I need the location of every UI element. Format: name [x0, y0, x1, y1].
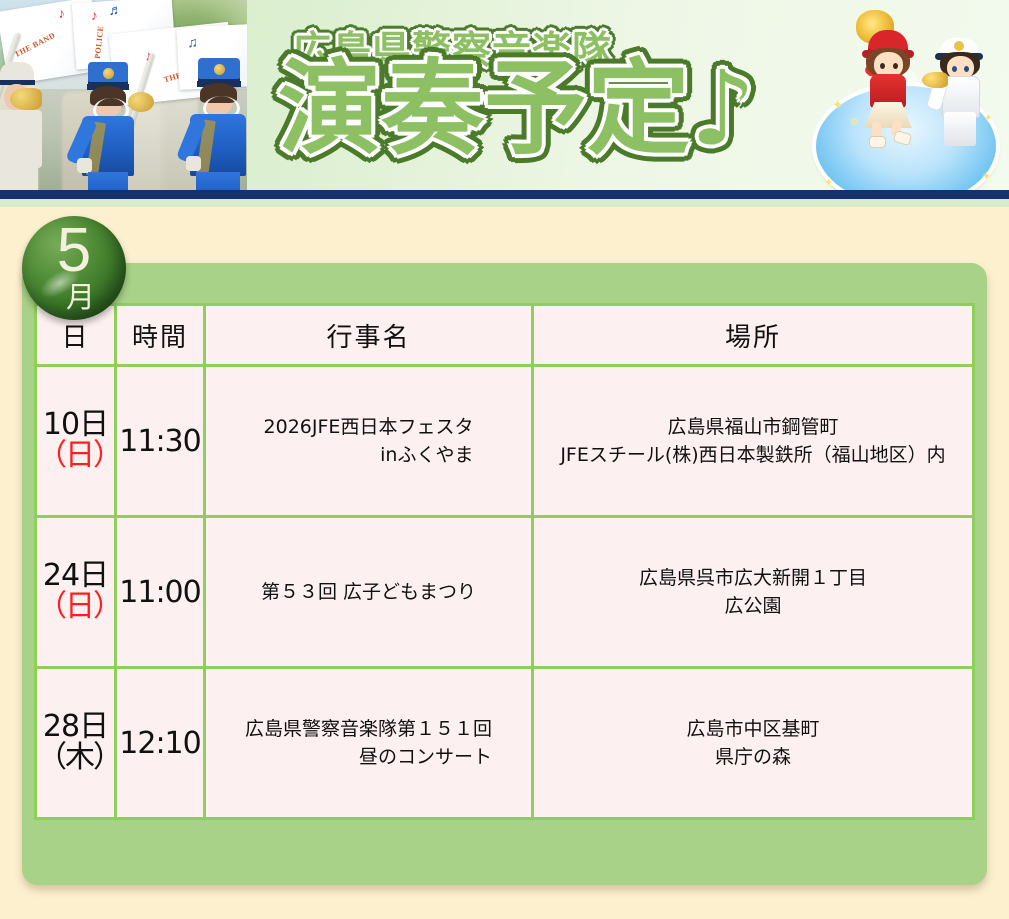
table-row: 28日 （木） 12:10 広島県警察音楽隊第１５１回 昼のコンサート 広島市中…	[36, 668, 974, 819]
cell-time: 12:10	[116, 668, 205, 819]
place-line-2: JFEスチール(株)西日本製鉄所（福山地区）内	[534, 441, 972, 470]
member-glove	[186, 156, 201, 171]
cell-day: 24日 （日）	[36, 517, 116, 668]
cell-place: 広島県福山市鋼管町 JFEスチール(株)西日本製鉄所（福山地区）内	[533, 366, 974, 517]
table-row: 24日 （日） 11:00 第５３回 広子どもまつり 広島県呉市広大新開１丁目 …	[36, 517, 974, 668]
mascot-conductor	[916, 16, 1002, 148]
sparkle-icon: ✦	[824, 178, 833, 189]
column-header-event: 行事名	[205, 305, 533, 366]
event-name: 2026JFE西日本フェスタ inふくやま	[264, 413, 474, 470]
update-badge: ✦ ✦ ✦ ✦ ✦ ✦	[806, 2, 1006, 207]
member-uniform-white	[0, 110, 42, 168]
day-number: 24日	[37, 561, 114, 592]
event-name: 広島県警察音楽隊第１５１回 昼のコンサート	[245, 715, 492, 772]
member-glove	[77, 158, 92, 173]
month-suffix: 月	[66, 274, 95, 316]
mascot-eye	[880, 63, 885, 69]
place-name: 広島県福山市鋼管町 JFEスチール(株)西日本製鉄所（福山地区）内	[534, 413, 972, 470]
page-title: 演奏予定♪	[278, 58, 756, 161]
navy-divider-bar	[0, 190, 1009, 199]
photo-trumpet-player	[0, 60, 48, 207]
brass-instrument-icon	[128, 92, 154, 112]
photo-band-member-2	[188, 58, 247, 207]
event-name: 第５３回 広子どもまつり	[261, 578, 476, 607]
band-parade-photo: ♪ ♫ THE BAND ♪ ♬ POLICE ♪ THE MAJOR ♫	[0, 0, 247, 207]
mascot-eye	[952, 66, 957, 72]
mascot-eye	[964, 66, 969, 72]
table-row: 10日 （日） 11:30 2026JFE西日本フェスタ inふくやま 広島県福…	[36, 366, 974, 517]
uniform-hat-white	[0, 62, 34, 82]
day-number: 10日	[37, 410, 114, 441]
event-line-1: 第５３回 広子どもまつり	[261, 581, 476, 603]
month-number: 5	[22, 220, 126, 282]
event-line-2: 昼のコンサート	[245, 743, 492, 772]
event-line-2: inふくやま	[264, 441, 474, 470]
sparkle-icon: ✦	[982, 172, 991, 183]
cell-place: 広島市中区基町 県庁の森	[533, 668, 974, 819]
trumpet-icon	[922, 72, 948, 88]
day-weekday: （木）	[37, 743, 114, 774]
mascot-eye	[893, 63, 898, 69]
day-weekday: （日）	[37, 441, 114, 472]
place-name: 広島市中区基町 県庁の森	[534, 715, 972, 772]
day-number: 28日	[37, 712, 114, 743]
place-line-1: 広島市中区基町	[534, 715, 972, 744]
cell-event: 広島県警察音楽隊第１５１回 昼のコンサート	[205, 668, 533, 819]
cell-event: 2026JFE西日本フェスタ inふくやま	[205, 366, 533, 517]
hat-emblem-icon	[954, 41, 964, 51]
navy-divider-shadow	[0, 199, 1009, 207]
cell-day: 28日 （木）	[36, 668, 116, 819]
music-note-icon: ♪	[57, 5, 66, 20]
table-header-row: 日 時間 行事名 場所	[36, 305, 974, 366]
event-line-1: 2026JFE西日本フェスタ	[264, 416, 474, 438]
page-header: ♪ ♫ THE BAND ♪ ♬ POLICE ♪ THE MAJOR ♫	[0, 0, 1009, 207]
cell-day: 10日 （日）	[36, 366, 116, 517]
hat-emblem-icon	[103, 68, 114, 79]
event-line-1: 広島県警察音楽隊第１５１回	[245, 718, 492, 740]
photo-band-member-1	[76, 62, 140, 207]
month-badge: 5 月	[22, 216, 126, 320]
hat-emblem-icon	[214, 64, 225, 75]
trumpet-icon	[10, 88, 42, 110]
place-line-2: 県庁の森	[534, 743, 972, 772]
music-note-icon: ♪	[90, 8, 98, 22]
column-header-time: 時間	[116, 305, 205, 366]
cell-time: 11:00	[116, 517, 205, 668]
flag-text: POLICE	[93, 25, 105, 59]
place-line-2: 広公園	[534, 592, 972, 621]
place-name: 広島県呉市広大新開１丁目 広公園	[534, 564, 972, 621]
place-line-1: 広島県呉市広大新開１丁目	[534, 564, 972, 593]
day-weekday: （日）	[37, 592, 114, 623]
mascot-boot	[869, 136, 886, 148]
column-header-place: 場所	[533, 305, 974, 366]
mascot-trousers	[944, 112, 976, 146]
schedule-table: 日 時間 行事名 場所 10日 （日） 11:30 2026JFE西日本フェスタ…	[34, 303, 975, 820]
music-note-icon: ♬	[108, 2, 123, 17]
music-note-icon: ♫	[187, 35, 198, 50]
cell-event: 第５３回 広子どもまつり	[205, 517, 533, 668]
cell-time: 11:30	[116, 366, 205, 517]
place-line-1: 広島県福山市鋼管町	[534, 413, 972, 442]
cell-place: 広島県呉市広大新開１丁目 広公園	[533, 517, 974, 668]
